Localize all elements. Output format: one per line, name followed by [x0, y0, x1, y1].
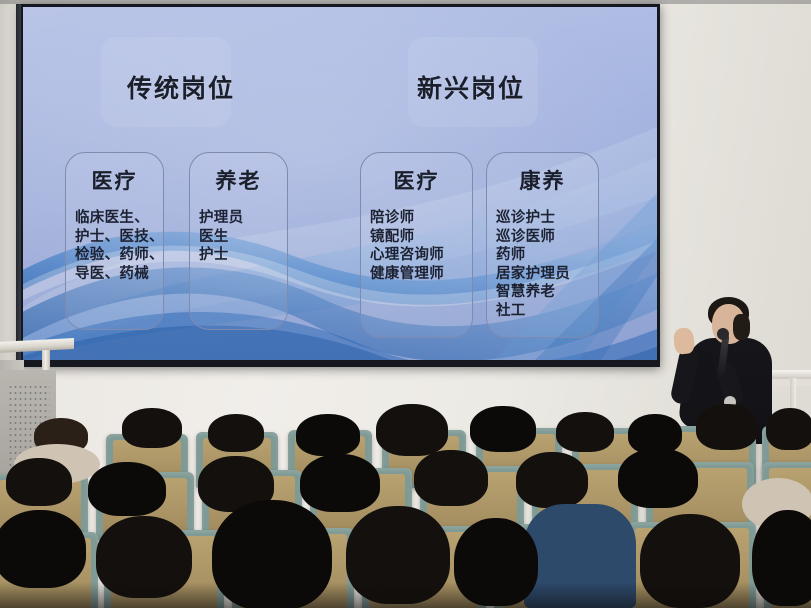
audience-head: [296, 414, 360, 456]
list-item: 心理咨询师: [370, 246, 466, 265]
list-item: 临床医生、: [75, 209, 157, 228]
audience-head: [208, 414, 264, 452]
header-emerging: 新兴岗位: [417, 69, 525, 105]
card-title: 康养: [487, 165, 598, 195]
audience-head: [300, 454, 380, 512]
presenter-hair-back: [733, 314, 750, 340]
list-item: 护士、医技、: [75, 228, 157, 247]
card-emerging-medical: 医疗 陪诊师 镜配师 心理咨询师 健康管理师: [360, 152, 473, 338]
audience-area: [0, 400, 811, 608]
lecture-hall-photo: 传统岗位 新兴岗位 医疗 临床医生、 护士、医技、 检验、药师、 导医、药械 养…: [0, 0, 811, 608]
foreground-shadow: [0, 582, 811, 608]
list-item: 社工: [496, 302, 592, 321]
audience-head: [766, 408, 811, 450]
audience-head: [696, 404, 758, 450]
audience-head: [376, 404, 448, 456]
list-item: 护士: [199, 246, 281, 265]
list-item: 智慧养老: [496, 283, 592, 302]
audience-head: [122, 408, 182, 448]
card-item-list: 护理员 医生 护士: [199, 209, 281, 265]
card-traditional-medical: 医疗 临床医生、 护士、医技、 检验、药师、 导医、药械: [65, 152, 164, 330]
audience-head: [556, 412, 614, 452]
card-item-list: 巡诊护士 巡诊医师 药师 居家护理员 智慧养老 社工: [496, 209, 592, 321]
card-title: 医疗: [66, 165, 163, 195]
card-emerging-wellness: 康养 巡诊护士 巡诊医师 药师 居家护理员 智慧养老 社工: [486, 152, 599, 338]
list-item: 护理员: [199, 209, 281, 228]
audience-head: [470, 406, 536, 452]
card-title: 医疗: [361, 165, 472, 195]
presenter-raised-hand: [673, 327, 696, 355]
list-item: 镜配师: [370, 228, 466, 247]
audience-head: [414, 450, 488, 506]
card-title: 养老: [190, 165, 287, 195]
list-item: 健康管理师: [370, 265, 466, 284]
card-traditional-eldercare: 养老 护理员 医生 护士: [189, 152, 288, 330]
audience-head: [88, 462, 166, 516]
projection-screen: 传统岗位 新兴岗位 医疗 临床医生、 护士、医技、 检验、药师、 导医、药械 养…: [20, 4, 660, 367]
list-item: 陪诊师: [370, 209, 466, 228]
presentation-slide: 传统岗位 新兴岗位 医疗 临床医生、 护士、医技、 检验、药师、 导医、药械 养…: [23, 7, 657, 360]
card-item-list: 临床医生、 护士、医技、 检验、药师、 导医、药械: [75, 209, 157, 283]
list-item: 巡诊医师: [496, 228, 592, 247]
audience-head: [618, 448, 698, 508]
list-item: 居家护理员: [496, 265, 592, 284]
list-item: 检验、药师、: [75, 246, 157, 265]
card-item-list: 陪诊师 镜配师 心理咨询师 健康管理师: [370, 209, 466, 283]
microphone-head: [717, 328, 729, 340]
audience-head: [516, 452, 588, 508]
audience-head: [6, 458, 72, 506]
list-item: 药师: [496, 246, 592, 265]
header-traditional: 传统岗位: [127, 69, 235, 105]
list-item: 导医、药械: [75, 265, 157, 284]
list-item: 医生: [199, 228, 281, 247]
list-item: 巡诊护士: [496, 209, 592, 228]
audience-head: [0, 510, 86, 588]
